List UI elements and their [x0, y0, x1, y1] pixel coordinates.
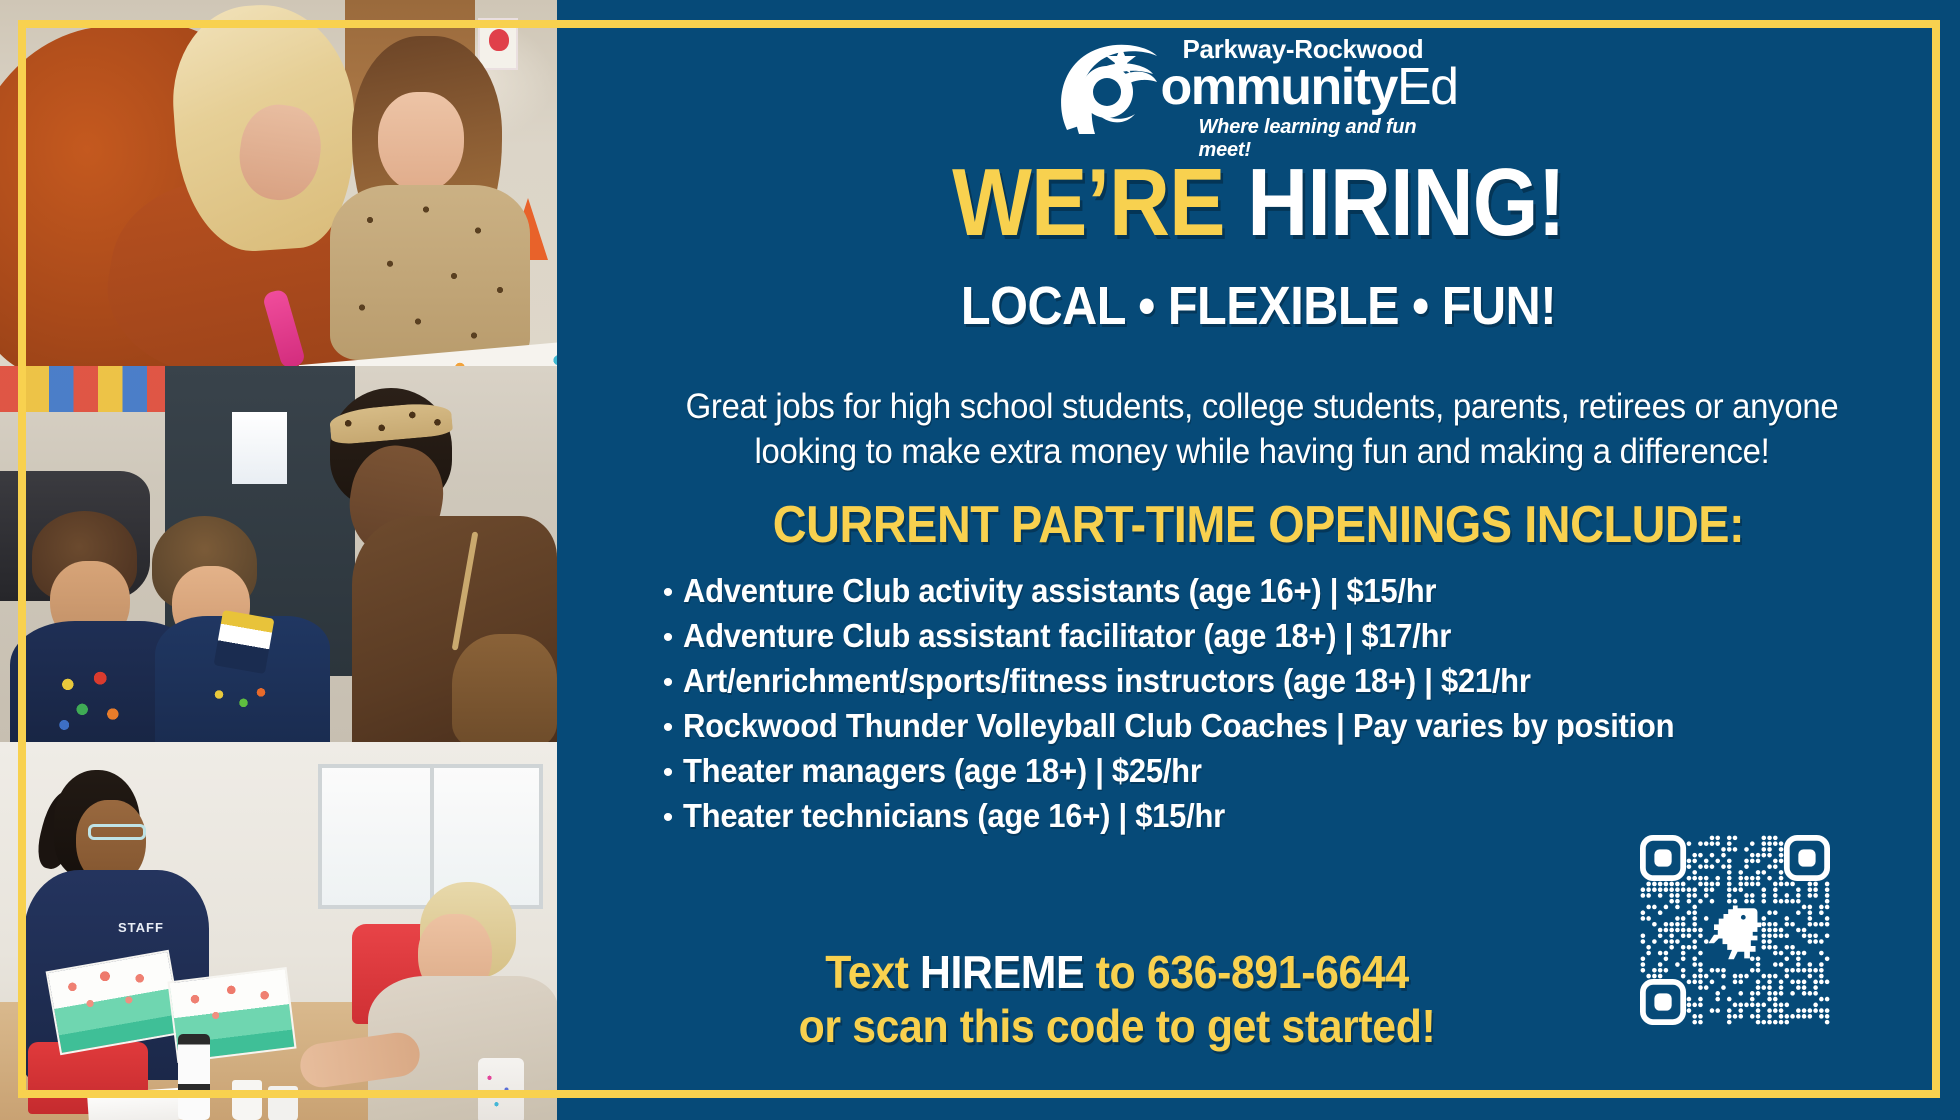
opening-text: Art/enrichment/sports/fitness instructor…: [683, 662, 1531, 700]
photo-staff-showing-artwork: STAFF: [0, 742, 557, 1120]
subheadline: LOCAL • FLEXIBLE • FUN!: [627, 275, 1890, 337]
brand-logo: Parkway-Rockwood ommunityEd Where learni…: [1049, 34, 1469, 146]
qr-code[interactable]: [1640, 835, 1830, 1025]
bullet-icon: •: [653, 803, 683, 833]
headline-were: WE’RE: [952, 149, 1247, 256]
bullet-icon: •: [653, 668, 683, 698]
cta-line-1: Text HIREME to 636-891-6644: [643, 945, 1592, 999]
photo3-staff-shirt-label: STAFF: [118, 920, 164, 935]
photo3-cup-1: [232, 1080, 262, 1120]
photo-column: STAFF: [0, 0, 557, 1120]
opening-text: Adventure Club assistant facilitator (ag…: [683, 617, 1451, 655]
photo3-water-bottle: [178, 1034, 210, 1120]
photo1-child-face: [378, 92, 464, 192]
logo-name-line: ommunityEd: [1161, 64, 1471, 112]
cta-text-prefix: Text: [825, 946, 920, 998]
list-item: • Adventure Club activity assistants (ag…: [557, 572, 1960, 617]
photo3-window-mullion: [430, 764, 434, 909]
content-panel: Parkway-Rockwood ommunityEd Where learni…: [557, 0, 1960, 1120]
opening-text: Adventure Club activity assistants (age …: [683, 572, 1436, 610]
page-title: WE’RE HIRING!: [641, 155, 1876, 251]
photo-teacher-helping-girl-with-stamper: [0, 0, 557, 366]
list-item: • Art/enrichment/sports/fitness instruct…: [557, 662, 1960, 707]
bullet-icon: •: [653, 578, 683, 608]
photo2-second-child: [452, 634, 557, 742]
photo2-boy2-jacket-graphic: [205, 684, 275, 726]
list-item: • Theater managers (age 18+) | $25/hr: [557, 752, 1960, 797]
logo-wordmark: Parkway-Rockwood ommunityEd Where learni…: [1161, 36, 1471, 162]
list-item: • Rockwood Thunder Volleyball Club Coach…: [557, 707, 1960, 752]
bullet-icon: •: [653, 758, 683, 788]
cta-phone: to 636-891-6644: [1084, 946, 1409, 998]
swoosh-c-star-logo-icon: [1049, 34, 1171, 138]
list-item: • Adventure Club assistant facilitator (…: [557, 617, 1960, 662]
logo-name-light: Ed: [1397, 58, 1458, 116]
cta-line-2: or scan this code to get started!: [643, 999, 1592, 1053]
opening-text: Theater managers (age 18+) | $25/hr: [683, 752, 1202, 790]
intro-paragraph: Great jobs for high school students, col…: [665, 385, 1859, 475]
cta-keyword: HIREME: [920, 946, 1084, 998]
photo2-poster: [232, 412, 287, 484]
photo3-cup-2: [268, 1086, 298, 1120]
bullet-icon: •: [653, 713, 683, 743]
photo2-boy2-collar: [214, 610, 275, 674]
photo1-wall-sign: [478, 18, 518, 70]
opening-text: Theater technicians (age 16+) | $15/hr: [683, 797, 1225, 835]
bullet-icon: •: [653, 623, 683, 653]
opening-text: Rockwood Thunder Volleyball Club Coaches…: [683, 707, 1674, 745]
openings-section-title: CURRENT PART-TIME OPENINGS INCLUDE:: [627, 495, 1890, 555]
call-to-action: Text HIREME to 636-891-6644 or scan this…: [643, 945, 1592, 1054]
photo1-child-leopard-top: [330, 185, 530, 360]
openings-list: • Adventure Club activity assistants (ag…: [557, 572, 1960, 842]
photo-two-boys-with-staff-member: [0, 366, 557, 742]
photo2-boy1-shirt-graphic: [48, 661, 138, 739]
photo3-staff-glasses: [88, 824, 146, 840]
photo3-tumbler: [478, 1058, 524, 1120]
photo2-bunting: [0, 366, 175, 412]
headline-hiring: HIRING!: [1247, 149, 1565, 256]
logo-name-bold: ommunity: [1161, 58, 1397, 116]
hiring-flyer: STAFF: [0, 0, 1960, 1120]
